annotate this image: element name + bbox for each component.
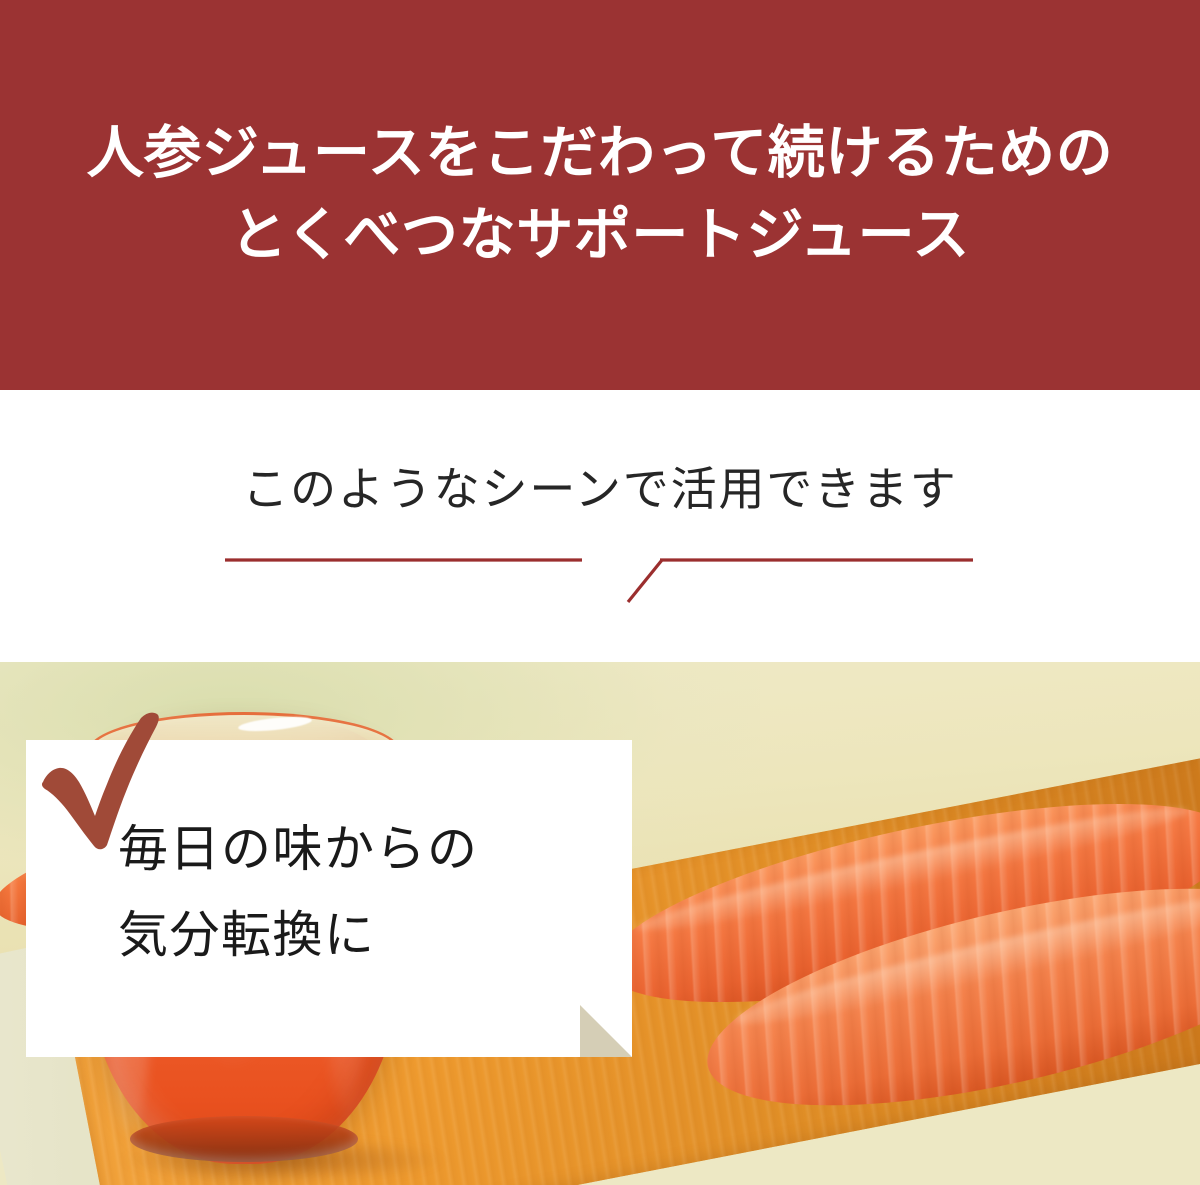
promo-page: 人参ジュースをこだわって続けるための とくべつなサポートジュース このようなシー… [0, 0, 1200, 1185]
check-mark-stroke [42, 713, 159, 850]
hero-headline-line-2: とくべつなサポートジュース [230, 206, 970, 266]
check-mark-icon [36, 712, 168, 850]
glass-base [130, 1116, 358, 1162]
scene-callout-text: 毎日の味からの 気分転換に [118, 806, 479, 978]
scene-callout-line-2: 気分転換に [118, 892, 479, 978]
card-folded-corner [580, 1005, 632, 1057]
hero-banner: 人参ジュースをこだわって続けるための とくべつなサポートジュース [0, 0, 1200, 390]
hero-headline-line-1: 人参ジュースをこだわって続けるための [87, 124, 1114, 184]
intro-title: このようなシーンで活用できます [0, 462, 1200, 517]
scene-callout-line-1: 毎日の味からの [118, 806, 479, 892]
rule-diagonal [628, 560, 662, 602]
intro-section: このようなシーンで活用できます [0, 390, 1200, 662]
decorative-underline [0, 390, 1200, 662]
